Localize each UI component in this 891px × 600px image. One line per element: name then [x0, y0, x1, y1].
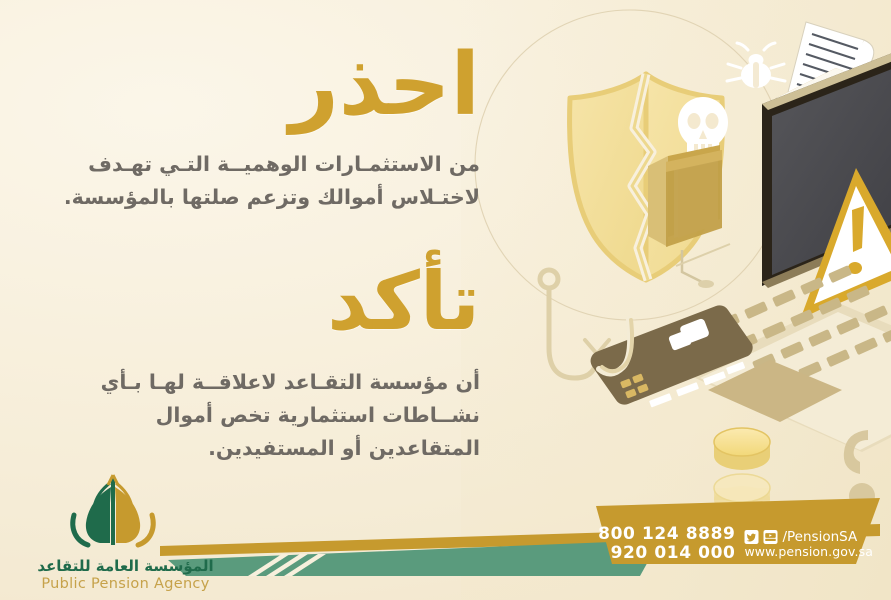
- skull-icon: [678, 97, 728, 152]
- headline-confirm: تأكد: [327, 262, 480, 342]
- bug-icon: [727, 43, 785, 88]
- folder-icon: [648, 145, 730, 288]
- footer: المؤسسة العامة للتقاعد Public Pension Ag…: [0, 480, 891, 600]
- twitter-icon[interactable]: [744, 530, 759, 544]
- phone-secondary: 920 014 000: [598, 544, 735, 564]
- phone-primary: 800 124 8889: [598, 525, 735, 545]
- social-row: /PensionSA: [744, 530, 873, 545]
- social-handle[interactable]: /PensionSA: [782, 530, 857, 545]
- contact-strip: 800 124 8889 920 014 000 /PensionSA: [598, 525, 873, 564]
- poster-canvas: احذر من الاستثمـارات الوهميــة التـي تهـ…: [0, 0, 891, 600]
- credit-card-icon: [591, 305, 753, 407]
- warning-triangle-icon: [800, 168, 891, 320]
- logo-name-english: Public Pension Agency: [18, 576, 233, 592]
- broken-shield-icon: [570, 74, 723, 280]
- message-column: احذر من الاستثمـارات الوهميــة التـي تهـ…: [0, 0, 530, 470]
- youtube-icon[interactable]: [763, 530, 778, 544]
- palm-wheat-stalk-icon: [58, 473, 168, 551]
- laptop-icon: [686, 265, 891, 452]
- phone-numbers: 800 124 8889 920 014 000: [598, 525, 735, 564]
- logo-name-arabic: المؤسسة العامة للتقاعد: [18, 557, 233, 575]
- monitor-warning-icon: [762, 46, 891, 320]
- fish-hook-icon: [540, 270, 609, 378]
- agency-logo: المؤسسة العامة للتقاعد Public Pension Ag…: [18, 473, 233, 592]
- envelope-document-icon: [776, 22, 891, 156]
- website-url[interactable]: www.pension.gov.sa: [744, 545, 873, 559]
- headline-beware: احذر: [289, 42, 480, 128]
- body-text-confirm: أن مؤسسة التقـاعد لاعلاقــة لهـا بـأي نش…: [55, 366, 480, 466]
- social-block: /PensionSA www.pension.gov.sa: [744, 530, 873, 559]
- body-text-beware: من الاستثمـارات الوهميــة التـي تهـدف لا…: [55, 148, 480, 214]
